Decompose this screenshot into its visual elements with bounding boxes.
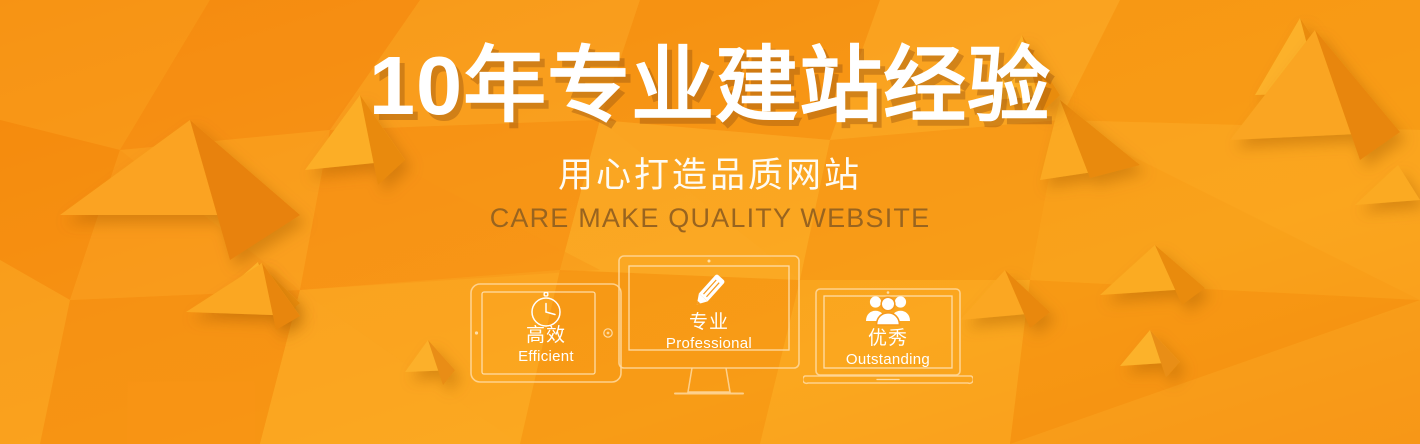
monitor-camera-dot bbox=[708, 260, 711, 263]
monitor-outline bbox=[618, 255, 800, 400]
feature-card-professional[interactable]: 专业 Professional bbox=[618, 255, 800, 400]
laptop-outline bbox=[803, 288, 973, 392]
subtitle-english: CARE MAKE QUALITY WEBSITE bbox=[0, 202, 1420, 234]
feature-card-outstanding[interactable]: 优秀 Outstanding bbox=[803, 288, 973, 392]
laptop-camera-dot bbox=[887, 291, 890, 294]
feature-card-efficient[interactable]: 高效 Efficient bbox=[470, 283, 622, 383]
promo-banner: 10年专业建站经验 用心打造品质网站 CARE MAKE QUALITY WEB… bbox=[0, 0, 1420, 444]
subtitle-chinese: 用心打造品质网站 bbox=[0, 155, 1420, 197]
headline: 10年专业建站经验 bbox=[0, 42, 1420, 129]
tablet-outline bbox=[470, 283, 622, 383]
tablet-camera-dot bbox=[475, 331, 478, 334]
monitor-stand-neck bbox=[688, 368, 730, 392]
